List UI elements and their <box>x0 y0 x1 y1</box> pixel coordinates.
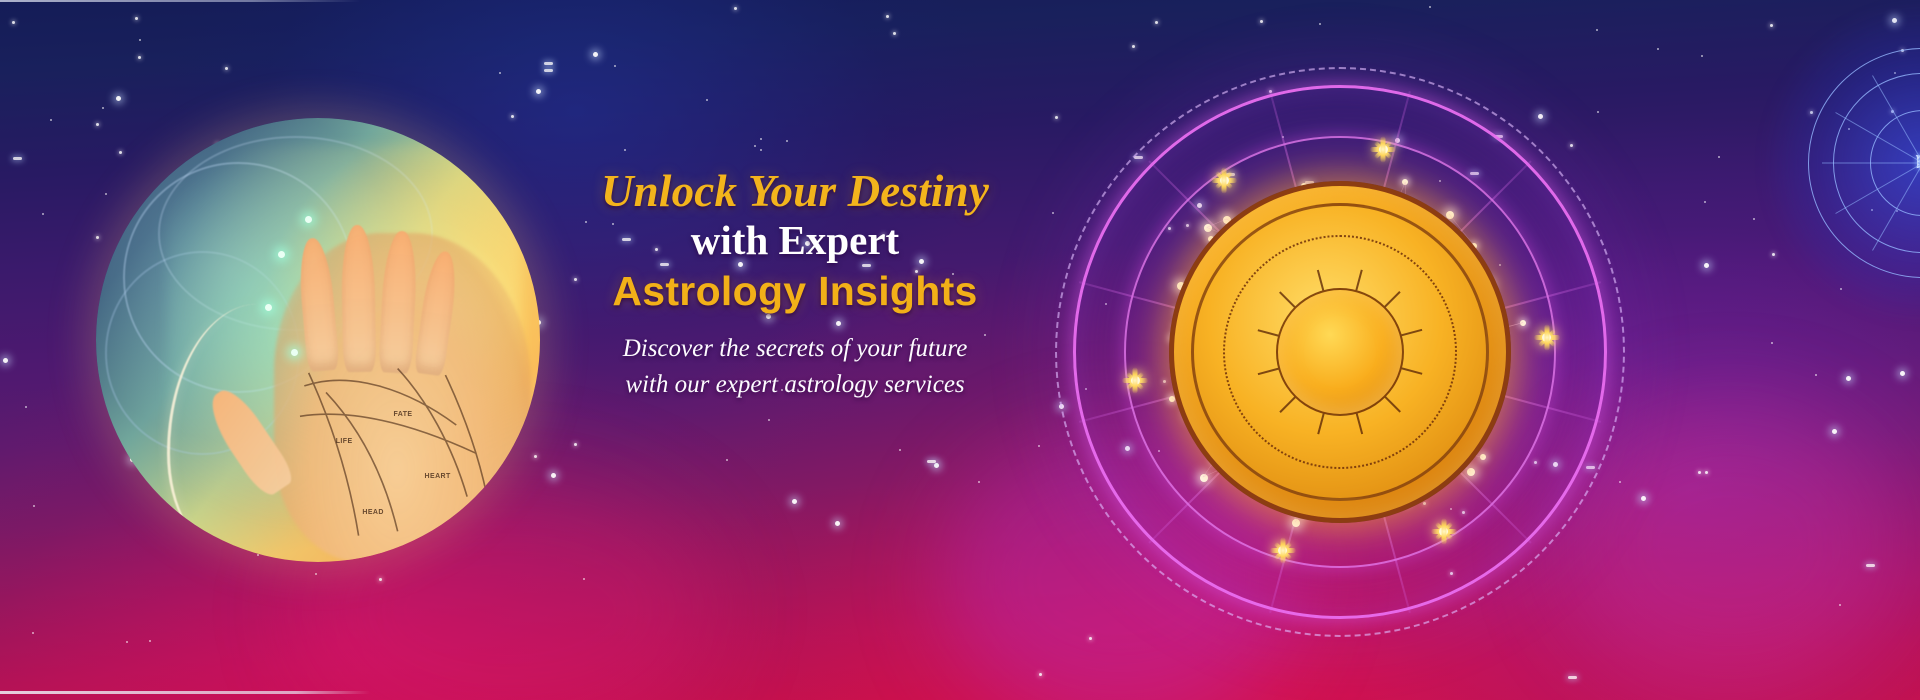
star <box>786 140 788 142</box>
star <box>138 56 141 59</box>
star <box>726 459 728 461</box>
star <box>1839 604 1841 606</box>
star <box>1770 24 1773 27</box>
star <box>1429 6 1431 8</box>
star <box>1701 55 1703 57</box>
headline-line-1: Unlock Your Destiny <box>545 168 1045 215</box>
palm-chart-lines <box>291 349 513 544</box>
sunburst-icon <box>1211 167 1237 193</box>
constellation-star <box>1402 179 1408 185</box>
star <box>760 138 762 140</box>
energy-dot <box>305 216 312 223</box>
star <box>1657 48 1659 50</box>
star <box>499 72 501 74</box>
constellation-star <box>1204 224 1212 232</box>
star <box>1771 342 1773 344</box>
star <box>1718 156 1720 158</box>
sunburst-icon <box>1370 137 1396 163</box>
star <box>1704 201 1706 203</box>
star <box>1704 263 1709 268</box>
palm-label-heart: HEART <box>425 473 451 480</box>
constellation-star <box>1169 396 1175 402</box>
headline-line-2: with Expert <box>545 215 1045 267</box>
star <box>792 499 797 504</box>
subtitle-line-2: with our expert astrology services <box>545 367 1045 403</box>
star <box>1705 471 1708 474</box>
constellation-star <box>1520 320 1526 326</box>
constellation-star <box>1200 474 1208 482</box>
star <box>3 358 8 363</box>
star <box>835 521 840 526</box>
palmistry-image: HEART HEAD LIFE FATE <box>96 118 540 562</box>
star <box>32 632 34 634</box>
star <box>135 17 138 20</box>
zodiac-gold-disc: ♈♓♒♑♐♏♎♍♌♋♊♉ <box>1169 181 1511 523</box>
star <box>544 69 553 72</box>
sunburst-icon <box>1534 325 1560 351</box>
star <box>1900 371 1905 376</box>
zodiac-wheel-main: ♈♓♒♑♐♏♎♍♌♋♊♉ <box>1040 52 1640 652</box>
star <box>754 145 756 147</box>
star <box>1596 29 1598 31</box>
star <box>1772 253 1775 256</box>
star <box>315 573 317 575</box>
star <box>116 96 121 101</box>
star <box>149 640 151 642</box>
zodiac-wheel-edge: ♊♋♌♍ <box>1808 48 1920 278</box>
sunburst-icon <box>1431 518 1457 544</box>
star <box>1155 21 1158 24</box>
star <box>760 149 762 151</box>
star <box>544 62 553 65</box>
sunburst-icon <box>1122 368 1148 394</box>
star <box>574 443 577 446</box>
constellation-star <box>1446 211 1454 219</box>
star <box>42 213 44 215</box>
star <box>978 481 980 483</box>
star <box>1568 676 1577 679</box>
star <box>379 578 382 581</box>
star <box>12 21 15 24</box>
star <box>1815 374 1817 376</box>
star <box>1846 376 1851 381</box>
subtitle-line-1: Discover the secrets of your future <box>545 331 1045 367</box>
star <box>886 15 889 18</box>
star <box>1832 429 1837 434</box>
palmistry-circle: HEART HEAD LIFE FATE <box>96 118 540 562</box>
star <box>551 473 556 478</box>
palm-label-fate: FATE <box>393 411 412 418</box>
zodiac-disc-center <box>1276 288 1405 417</box>
star <box>1866 564 1875 567</box>
star <box>126 641 128 643</box>
edge-highlight-top <box>0 0 360 2</box>
star <box>1753 218 1755 220</box>
headline-line-3: Astrology Insights <box>545 266 1045 316</box>
star <box>934 463 939 468</box>
constellation-star <box>1480 454 1486 460</box>
star <box>768 419 770 421</box>
star <box>225 67 228 70</box>
star <box>139 39 141 41</box>
star <box>33 505 35 507</box>
constellation-star <box>1292 519 1300 527</box>
palm-label-head: HEAD <box>362 509 383 516</box>
star <box>593 52 598 57</box>
gold-disc-rim: ♈♓♒♑♐♏♎♍♌♋♊♉ <box>1191 203 1490 502</box>
hero-copy: Unlock Your Destiny with Expert Astrolog… <box>545 168 1045 402</box>
star <box>734 7 737 10</box>
star <box>1039 673 1042 676</box>
star <box>1698 471 1701 474</box>
star <box>927 460 936 463</box>
star <box>624 149 626 151</box>
constellation-star <box>1467 468 1475 476</box>
star <box>1132 45 1135 48</box>
star <box>583 578 585 580</box>
star <box>614 65 616 67</box>
star <box>536 89 541 94</box>
star <box>899 449 901 451</box>
star <box>102 107 104 109</box>
astrology-hero-banner: HEART HEAD LIFE FATE Unlock Your Destiny… <box>0 0 1920 700</box>
star <box>25 406 27 408</box>
sunburst-icon <box>1270 538 1296 564</box>
edge-highlight-bottom <box>0 691 370 694</box>
star <box>706 99 708 101</box>
palm-label-life: LIFE <box>336 438 353 445</box>
subtitle-block: Discover the secrets of your future with… <box>545 331 1045 402</box>
star <box>13 157 22 160</box>
star <box>50 119 52 121</box>
star <box>893 32 896 35</box>
mini-wheel-divider <box>1822 163 1920 164</box>
